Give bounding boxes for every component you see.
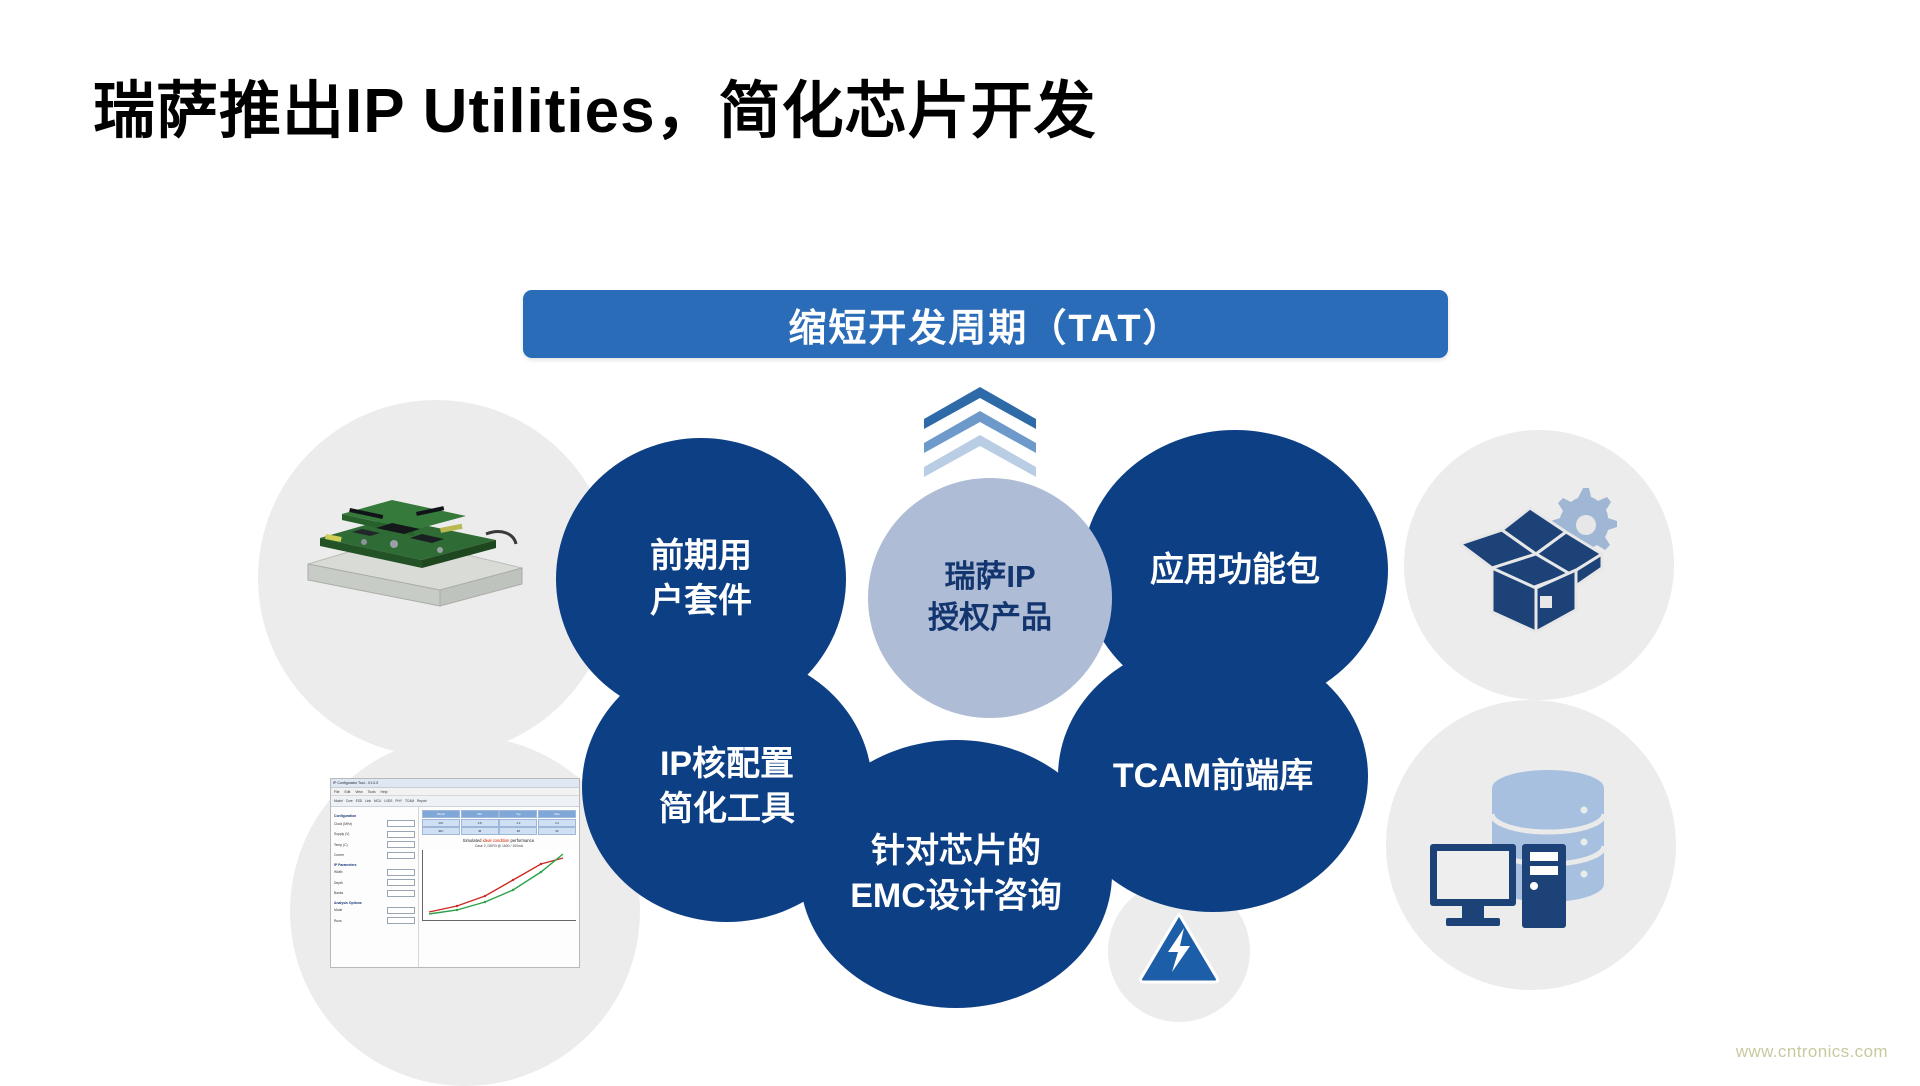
menu-item: Tools	[368, 790, 376, 794]
slide-canvas: 瑞萨推出IP Utilities，简化芯片开发 缩短开发周期（TAT）	[0, 0, 1920, 1080]
bubble-renesas-ip-licensed-products[interactable]: 瑞萨IP 授权产品	[868, 478, 1112, 718]
bubble-line-1: TCAM前端库	[1113, 754, 1313, 799]
screenshot-tab: Model	[334, 799, 343, 803]
panel-field: Depth	[334, 879, 415, 886]
bubble-label: 瑞萨IP 授权产品	[918, 557, 1062, 639]
panel-field: Clock (MHz)	[334, 820, 415, 827]
field-value-box	[387, 831, 415, 838]
field-label: Banks	[334, 891, 343, 895]
panel-section-title: Analysis Options	[334, 901, 415, 905]
menu-item: File	[334, 790, 339, 794]
database-computer-icon	[1424, 752, 1634, 942]
field-value-box	[387, 907, 415, 914]
package-gears-icon	[1444, 470, 1634, 660]
field-label: Corner	[334, 853, 344, 857]
panel-field: Corner	[334, 852, 415, 859]
field-label: Width	[334, 870, 342, 874]
bubble-early-user-kit[interactable]: 前期用 户套件	[556, 438, 846, 720]
screenshot-titlebar: IP Configurator Tool - V1.0.0	[331, 779, 579, 788]
bubble-line-1: 针对芯片的	[850, 829, 1062, 874]
screenshot-tab: Core	[346, 799, 353, 803]
table-cell: tCK	[422, 819, 460, 827]
field-value-box	[387, 869, 415, 876]
panel-field: Runs	[334, 917, 415, 924]
bubble-line-1: IP核配置	[659, 742, 795, 787]
table-header-cell: Typ	[499, 810, 537, 818]
bubble-line-2: 户套件	[650, 579, 752, 624]
screenshot-tab: Report	[417, 799, 427, 803]
panel-section-title: Configuration	[334, 814, 415, 818]
screenshot-tabbar: Model Core ESD Link MCU LVDS PHY TCAM Re…	[331, 796, 579, 807]
screenshot-menubar: File Edit View Tools Help	[331, 788, 579, 796]
bubble-label: TCAM前端库	[1103, 754, 1323, 799]
bubble-application-function-pack[interactable]: 应用功能包	[1082, 430, 1388, 710]
bubble-line-2: EMC设计咨询	[850, 874, 1062, 919]
chart-title-highlight: ideal condition	[483, 838, 510, 843]
field-label: Supply (V)	[334, 832, 349, 836]
panel-field: Temp (C)	[334, 841, 415, 848]
bubble-line-1: 应用功能包	[1150, 548, 1320, 593]
field-label: Runs	[334, 919, 342, 923]
panel-field: Width	[334, 869, 415, 876]
bubble-line-2: 简化工具	[659, 787, 795, 832]
menu-item: View	[355, 790, 362, 794]
screenshot-right-panel: Param Min Typ Max tCK 0.8 1.0 1.2 tRC 45…	[419, 807, 579, 968]
evaluation-board-photo	[290, 472, 532, 622]
tat-banner-label: 缩短开发周期（TAT）	[788, 297, 1182, 352]
field-label: Depth	[334, 881, 343, 885]
bubble-label: 针对芯片的 EMC设计咨询	[840, 829, 1072, 919]
screenshot-chart-plot	[422, 850, 576, 921]
screenshot-parameter-table: Param Min Typ Max tCK 0.8 1.0 1.2 tRC 45…	[422, 810, 576, 835]
table-cell: 1.0	[499, 819, 537, 827]
screenshot-tab: PHY	[395, 799, 402, 803]
tat-banner: 缩短开发周期（TAT）	[523, 290, 1448, 358]
menu-item: Edit	[344, 790, 350, 794]
table-cell: 45	[461, 827, 499, 835]
screenshot-body: Configuration Clock (MHz) Supply (V) Tem…	[331, 807, 579, 968]
screenshot-tab: MCU	[374, 799, 381, 803]
bubble-line-2: 授权产品	[928, 598, 1052, 639]
table-cell: tRC	[422, 827, 460, 835]
chevron-up-icon-3	[920, 433, 1040, 477]
screenshot-left-panel: Configuration Clock (MHz) Supply (V) Tem…	[331, 807, 419, 968]
screenshot-chart-subtitle: Case 2, DDR3 @ 1600 / 100mA	[422, 844, 576, 848]
bubble-line-1: 前期用	[650, 534, 752, 579]
field-label: Clock (MHz)	[334, 822, 352, 826]
table-cell: 1.2	[538, 819, 576, 827]
bubble-line-1: 瑞萨IP	[928, 557, 1052, 598]
field-value-box	[387, 820, 415, 827]
table-cell: 52	[538, 827, 576, 835]
table-header-cell: Min	[461, 810, 499, 818]
chart-title-suffix: performance.	[509, 838, 535, 843]
page-title: 瑞萨推出IP Utilities，简化芯片开发	[93, 78, 1097, 146]
table-header-cell: Param	[422, 810, 460, 818]
chart-title-prefix: Simulated	[463, 838, 483, 843]
lightning-warning-icon	[1138, 906, 1220, 988]
field-value-box	[387, 917, 415, 924]
field-value-box	[387, 841, 415, 848]
field-value-box	[387, 890, 415, 897]
panel-field: Supply (V)	[334, 831, 415, 838]
site-watermark: www.cntronics.com	[1736, 1042, 1888, 1062]
panel-field: Mode	[334, 907, 415, 914]
table-cell: 48	[499, 827, 537, 835]
bubble-label: 应用功能包	[1140, 548, 1330, 593]
screenshot-tab: ESD	[356, 799, 363, 803]
field-value-box	[387, 852, 415, 859]
field-value-box	[387, 879, 415, 886]
screenshot-tab: TCAM	[405, 799, 414, 803]
menu-item: Help	[381, 790, 388, 794]
screenshot-chart-title: Simulated ideal condition performance.	[422, 838, 576, 843]
table-header-cell: Max	[538, 810, 576, 818]
table-cell: 0.8	[461, 819, 499, 827]
panel-section-title: IP Parameters	[334, 863, 415, 867]
panel-field: Banks	[334, 890, 415, 897]
bubble-label: 前期用 户套件	[640, 534, 762, 624]
screenshot-tab: Link	[365, 799, 371, 803]
field-label: Temp (C)	[334, 843, 348, 847]
simulation-software-screenshot: IP Configurator Tool - V1.0.0 File Edit …	[330, 778, 580, 968]
bubble-label: IP核配置 简化工具	[649, 742, 805, 832]
screenshot-tab: LVDS	[384, 799, 392, 803]
field-label: Mode	[334, 908, 342, 912]
